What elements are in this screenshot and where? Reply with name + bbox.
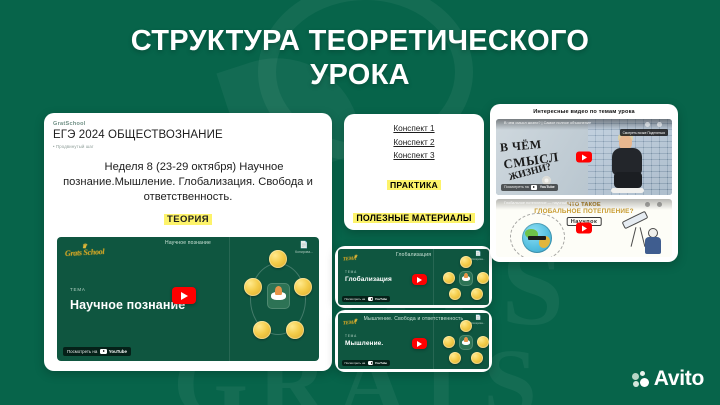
practice-label: ПРАКТИКА	[387, 180, 441, 190]
watch-text: Посмотреть на	[67, 349, 97, 354]
play-triangle-icon	[181, 292, 188, 300]
youtube-play-icon	[100, 349, 107, 354]
diagram-hub	[459, 335, 473, 350]
youtube-play-button[interactable]	[576, 223, 592, 234]
course-subtitle: • Продвинутый шаг	[53, 144, 323, 149]
youtube-logo: YouTube	[100, 349, 127, 354]
video-theme-title: Научное познание	[70, 298, 185, 312]
youtube-play-button[interactable]	[412, 338, 427, 349]
watch-on-youtube-badge[interactable]: Посмотреть на YouTube	[501, 184, 558, 191]
torso	[612, 148, 642, 175]
observer-body	[645, 237, 661, 254]
coin-node	[269, 250, 287, 268]
watch-later-icon[interactable]	[645, 202, 650, 207]
thinking-video-card[interactable]: Мышление. Свобода и ответственность ♛ ТЕ…	[335, 310, 492, 372]
link-konspekt-1[interactable]: Конспект 1	[352, 124, 476, 133]
share-icon[interactable]	[657, 202, 662, 207]
related-videos-heading: Интересные видео по темам урока	[496, 109, 672, 115]
coin-node	[443, 336, 455, 348]
video-top-title: Глобальное потепление — научный разбор	[504, 201, 632, 205]
globalization-video-card[interactable]: Глобализация ♛ ТЕМА 📄 Копирова... ТЕМА Г…	[335, 246, 492, 308]
theory-video-thumbnail[interactable]: Научное познание ♛ Grats School 📄 Копиро…	[57, 237, 319, 361]
play-triangle-icon	[417, 341, 422, 347]
diagram-hub	[459, 271, 473, 286]
hub-icon	[271, 292, 285, 301]
coin-node	[460, 320, 472, 332]
play-triangle-icon	[582, 154, 587, 160]
coin-circle-diagram	[245, 251, 311, 347]
observer-person	[645, 228, 662, 254]
video-theme-label: ТЕМА	[345, 334, 357, 338]
lesson-overview-panel: GratSchool ЕГЭ 2024 ОБЩЕСТВОЗНАНИЕ • Про…	[44, 113, 332, 371]
coin-node	[477, 272, 489, 284]
watch-on-youtube-badge[interactable]: Посмотреть на YouTube	[342, 296, 390, 302]
earth-illustration	[522, 223, 552, 253]
avito-dots-icon	[632, 371, 649, 388]
materials-row[interactable]: ПОЛЕЗНЫЕ МАТЕРИАЛЫ	[352, 202, 476, 226]
coin-circle-diagram	[443, 257, 489, 301]
video-divider	[229, 237, 230, 361]
avito-wordmark: Avito	[654, 367, 704, 391]
coin-node	[471, 288, 483, 300]
coin-node	[449, 288, 461, 300]
school-logo: GratSchool	[53, 121, 323, 127]
avito-logo: Avito	[632, 367, 704, 391]
diagram-hub	[267, 283, 290, 309]
coin-node	[477, 336, 489, 348]
coin-circle-diagram	[443, 321, 489, 365]
youtube-play-button[interactable]	[412, 274, 427, 285]
globalization-video-thumbnail[interactable]: Глобализация ♛ ТЕМА 📄 Копирова... ТЕМА Г…	[338, 249, 489, 305]
coin-node	[294, 278, 312, 296]
youtube-play-button[interactable]	[172, 287, 196, 304]
thinking-video-thumbnail[interactable]: Мышление. Свобода и ответственность ♛ ТЕ…	[338, 313, 489, 369]
youtube-wordmark: YouTube	[375, 297, 387, 301]
theory-section-label: ТЕОРИЯ	[53, 214, 323, 225]
play-triangle-icon	[417, 277, 422, 283]
coin-node	[244, 278, 262, 296]
watch-text: Посмотреть на	[504, 185, 529, 189]
page-title-line-2: УРОКА	[60, 58, 660, 92]
youtube-play-icon	[368, 297, 373, 301]
video-top-bar: Научное познание	[57, 237, 319, 246]
video-theme-label: ТЕМА	[345, 270, 357, 274]
youtube-play-icon	[368, 361, 373, 365]
crown-icon: ♛	[354, 254, 357, 259]
hub-icon	[462, 340, 471, 345]
global-warming-video[interactable]: ЧТО ТАКОЕ ГЛОБАЛЬНОЕ ПОТЕПЛЕНИЕ? Научпок…	[496, 199, 672, 257]
share-icon[interactable]	[657, 122, 662, 127]
slide-canvas: GRATS GRATS СТРУКТУРА ТЕОРЕТИЧЕСКОГО УРО…	[0, 0, 720, 405]
grats-script-logo: ♛ Grats School	[65, 247, 105, 258]
materials-label: ПОЛЕЗНЫЕ МАТЕРИАЛЫ	[353, 213, 474, 223]
coin-node	[471, 352, 483, 364]
coin-node	[449, 352, 461, 364]
video-theme-label: ТЕМА	[70, 287, 86, 292]
coin-node	[253, 321, 271, 339]
watch-later-icon[interactable]	[645, 122, 650, 127]
watch-text: Посмотреть на	[345, 361, 366, 365]
telescope-illustration	[620, 214, 662, 254]
watch-on-youtube-badge[interactable]: Посмотреть на YouTube	[63, 347, 131, 356]
document-glyph: 📄	[295, 242, 313, 249]
youtube-wordmark: YouTube	[540, 185, 555, 189]
watch-text: Посмотреть на	[345, 297, 366, 301]
lesson-description: Неделя 8 (23-29 октября) Научное познани…	[57, 160, 319, 205]
lesson-links-panel: Конспект 1 Конспект 2 Конспект 3 ПРАКТИК…	[344, 114, 484, 230]
youtube-logo: YouTube	[368, 297, 387, 301]
video-theme-title: Мышление.	[345, 340, 383, 347]
video-tooltip: Смотреть позже Поделиться	[620, 129, 668, 136]
theory-label-text: ТЕОРИЯ	[164, 214, 212, 225]
legs	[614, 172, 642, 188]
graffiti-text: В ЧЁМ СМЫСЛ ЖИЗНИ?	[499, 135, 560, 181]
watch-on-youtube-badge[interactable]: Посмотреть на YouTube	[342, 360, 390, 366]
tripod-leg	[631, 227, 637, 247]
video-top-title: Научное познание	[62, 240, 314, 246]
page-title-line-1: СТРУКТУРА ТЕОРЕТИЧЕСКОГО	[60, 24, 660, 58]
video-top-title: В чем смысл жизни? | Самое полное объясн…	[504, 121, 632, 125]
hub-icon	[462, 276, 471, 281]
coin-node	[460, 256, 472, 268]
avito-dot	[640, 371, 645, 376]
link-konspekt-3[interactable]: Конспект 3	[352, 151, 476, 160]
notes-link-list: Конспект 1 Конспект 2 Конспект 3	[352, 120, 476, 165]
youtube-play-button[interactable]	[576, 152, 592, 163]
youtube-logo: YouTube	[368, 361, 387, 365]
person-illustration	[609, 135, 647, 191]
coin-node	[443, 272, 455, 284]
grats-script-logo: ♛ ТЕМА	[343, 257, 356, 263]
youtube-play-icon	[531, 185, 537, 189]
related-videos-panel: Интересные видео по темам урока В ЧЁМ СМ…	[490, 104, 678, 262]
link-konspekt-2[interactable]: Конспект 2	[352, 138, 476, 147]
youtube-wordmark: YouTube	[375, 361, 387, 365]
practice-row[interactable]: ПРАКТИКА	[352, 168, 476, 199]
crown-icon: ♛	[354, 318, 357, 323]
avito-dot	[632, 373, 639, 380]
avito-dot	[633, 381, 639, 387]
reference-label[interactable]: СПРАВОЧНИК	[352, 230, 476, 231]
play-triangle-icon	[582, 225, 587, 231]
meaning-of-life-video[interactable]: В ЧЁМ СМЫСЛ ЖИЗНИ? В чем смысл жизни? | …	[496, 119, 672, 195]
avito-dot	[640, 378, 649, 387]
sunglasses-icon	[528, 236, 546, 240]
course-title: ЕГЭ 2024 ОБЩЕСТВОЗНАНИЕ	[53, 129, 323, 141]
grats-script-logo: ♛ ТЕМА	[343, 321, 356, 327]
coin-node	[286, 321, 304, 339]
crown-icon: ♛	[82, 243, 87, 250]
video-theme-title: Глобализация	[345, 276, 392, 283]
page-title: СТРУКТУРА ТЕОРЕТИЧЕСКОГО УРОКА	[60, 24, 660, 92]
youtube-wordmark: YouTube	[109, 349, 127, 354]
shoes	[611, 188, 644, 193]
